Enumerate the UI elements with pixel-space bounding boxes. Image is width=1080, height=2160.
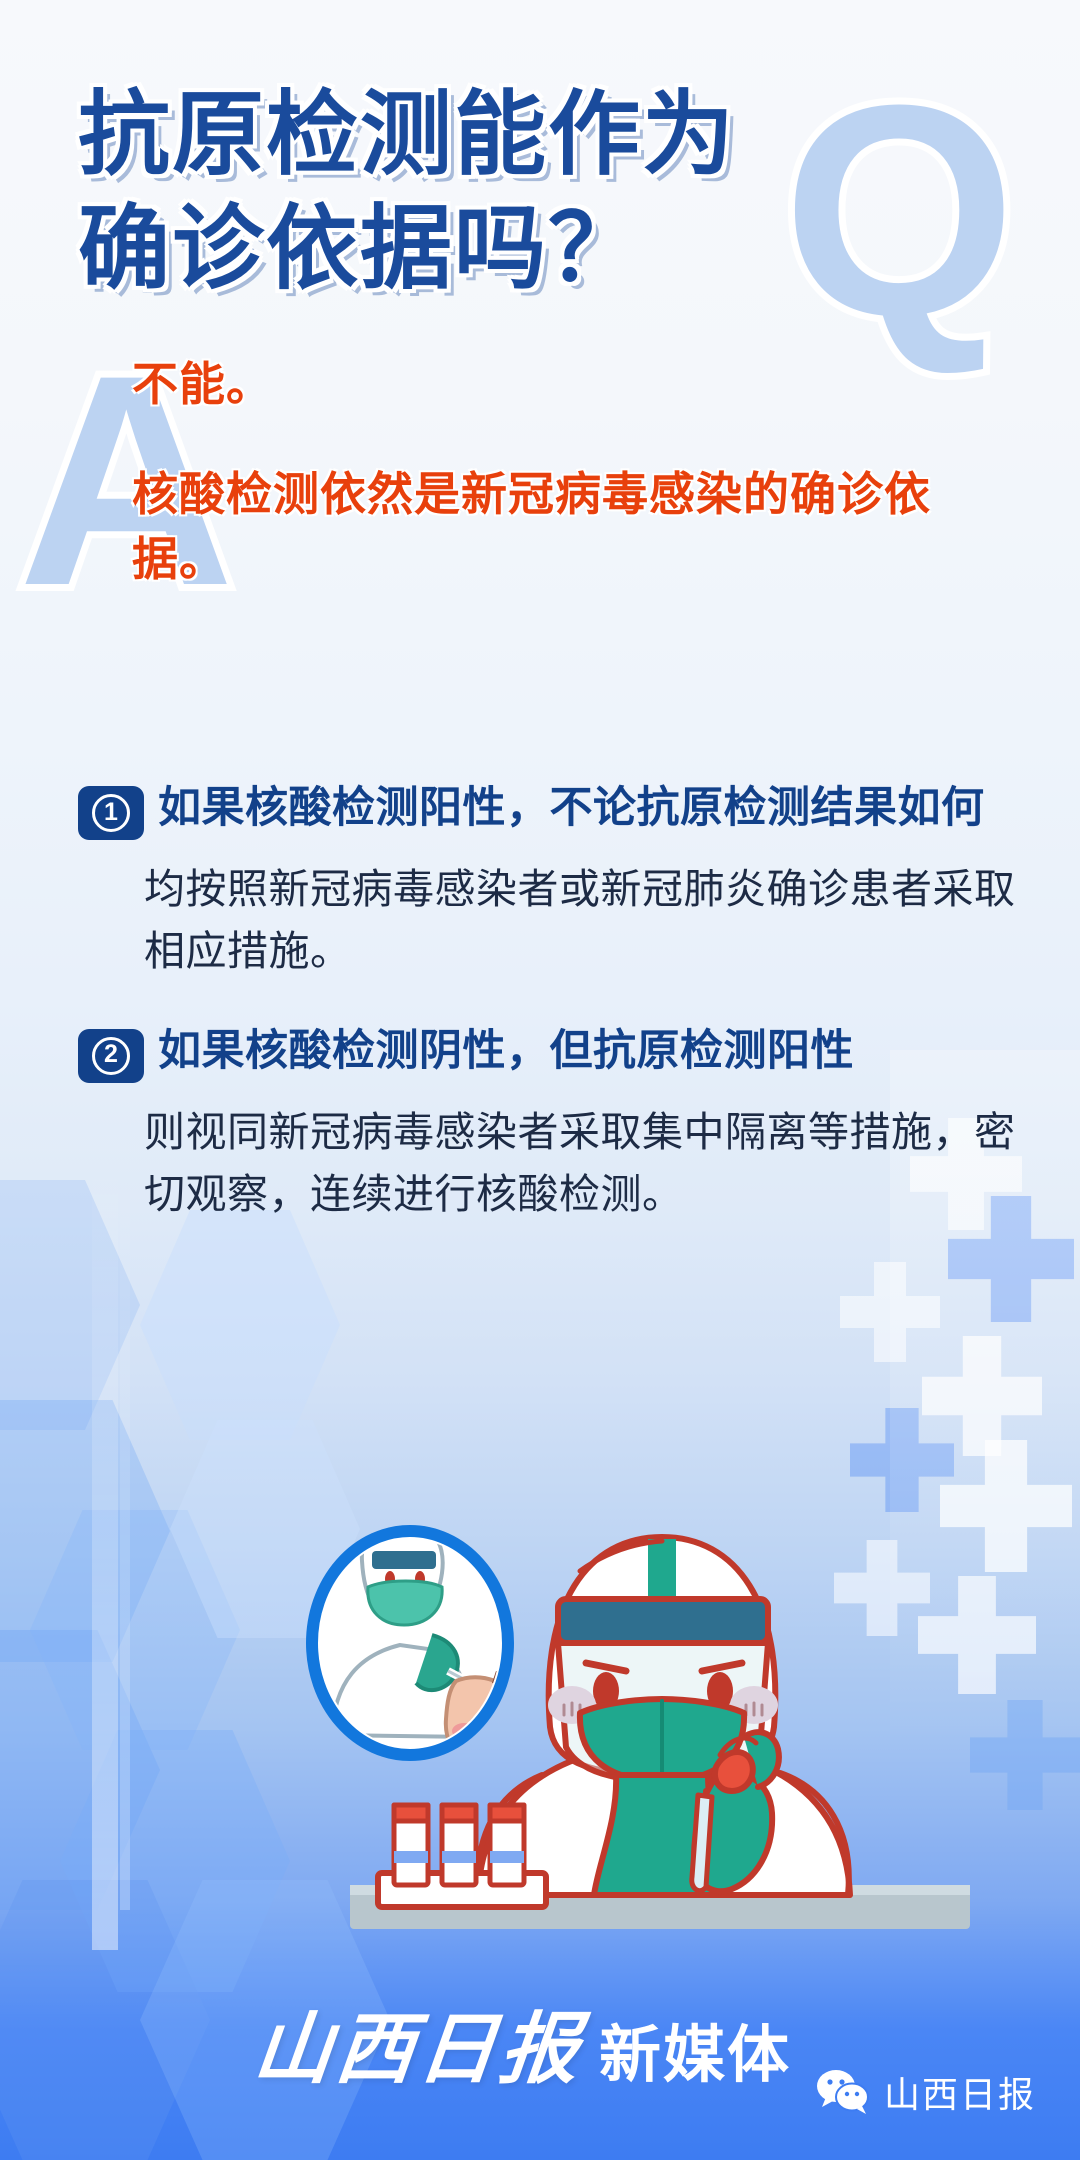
answer-block: 不能。 核酸检测依然是新冠病毒感染的确诊依据。 [132, 348, 1012, 593]
poster-footer: 山西日报 新媒体 山西日报 [0, 1955, 1080, 2160]
list-item: 1 如果核酸检测阳性，不论抗原检测结果如何 均按照新冠病毒感染者或新冠肺炎确诊患… [78, 780, 1018, 983]
brand-name: 山西日报 [249, 1987, 589, 2099]
hexagon-decor [0, 1630, 160, 1910]
brand-lockup: 山西日报 新媒体 [255, 1987, 791, 2099]
title-line-1: 抗原检测能作为 [78, 78, 998, 192]
answer-lead: 不能。 [132, 348, 1012, 414]
list-item: 2 如果核酸检测阴性，但抗原检测阳性 则视同新冠病毒感染者采取集中隔离等措施，密… [78, 1023, 1018, 1226]
cross-decor [840, 1262, 940, 1362]
item-header: 1 如果核酸检测阳性，不论抗原检测结果如何 [78, 780, 1018, 840]
wechat-account-name: 山西日报 [884, 2066, 1036, 2118]
wechat-account-lockup[interactable]: 山西日报 [816, 2066, 1036, 2118]
wechat-icon [816, 2069, 872, 2115]
title-line-2: 确诊依据吗？ [78, 192, 998, 306]
number-badge-icon: 1 [78, 786, 144, 840]
number-badge-icon: 2 [78, 1029, 144, 1083]
number-badge-label: 2 [92, 1037, 130, 1075]
item-header: 2 如果核酸检测阴性，但抗原检测阳性 [78, 1023, 1018, 1083]
cross-decor [922, 1336, 1042, 1456]
answer-body: 核酸检测依然是新冠病毒感染的确诊依据。 [132, 462, 1012, 593]
hexagon-decor [30, 1510, 240, 1750]
numbered-items-list: 1 如果核酸检测阳性，不论抗原检测结果如何 均按照新冠病毒感染者或新冠肺炎确诊患… [78, 780, 1018, 1249]
vertical-stripe-decor [120, 1150, 130, 1910]
item-title: 如果核酸检测阴性，但抗原检测阳性 [158, 1023, 854, 1080]
brand-subtitle: 新媒体 [599, 2004, 791, 2094]
item-description: 则视同新冠病毒感染者采取集中隔离等措施，密切观察，连续进行核酸检测。 [144, 1101, 1018, 1226]
nucleic-acid-swab-test-inset [310, 1521, 540, 1787]
poster-title: 抗原检测能作为 确诊依据吗？ [78, 78, 998, 306]
poster-root: Q A 抗原检测能作为 确诊依据吗？ 不能。 核酸检测依然是新冠病毒感染的确诊依… [0, 0, 1080, 2160]
medical-worker-ppe-illustration [250, 1475, 1060, 1945]
hexagon-decor [0, 1400, 170, 1662]
item-description: 均按照新冠病毒感染者或新冠肺炎确诊患者采取相应措施。 [144, 858, 1018, 983]
item-title: 如果核酸检测阳性，不论抗原检测结果如何 [158, 780, 985, 837]
vertical-stripe-decor [92, 1150, 118, 1950]
number-badge-label: 1 [92, 794, 130, 832]
